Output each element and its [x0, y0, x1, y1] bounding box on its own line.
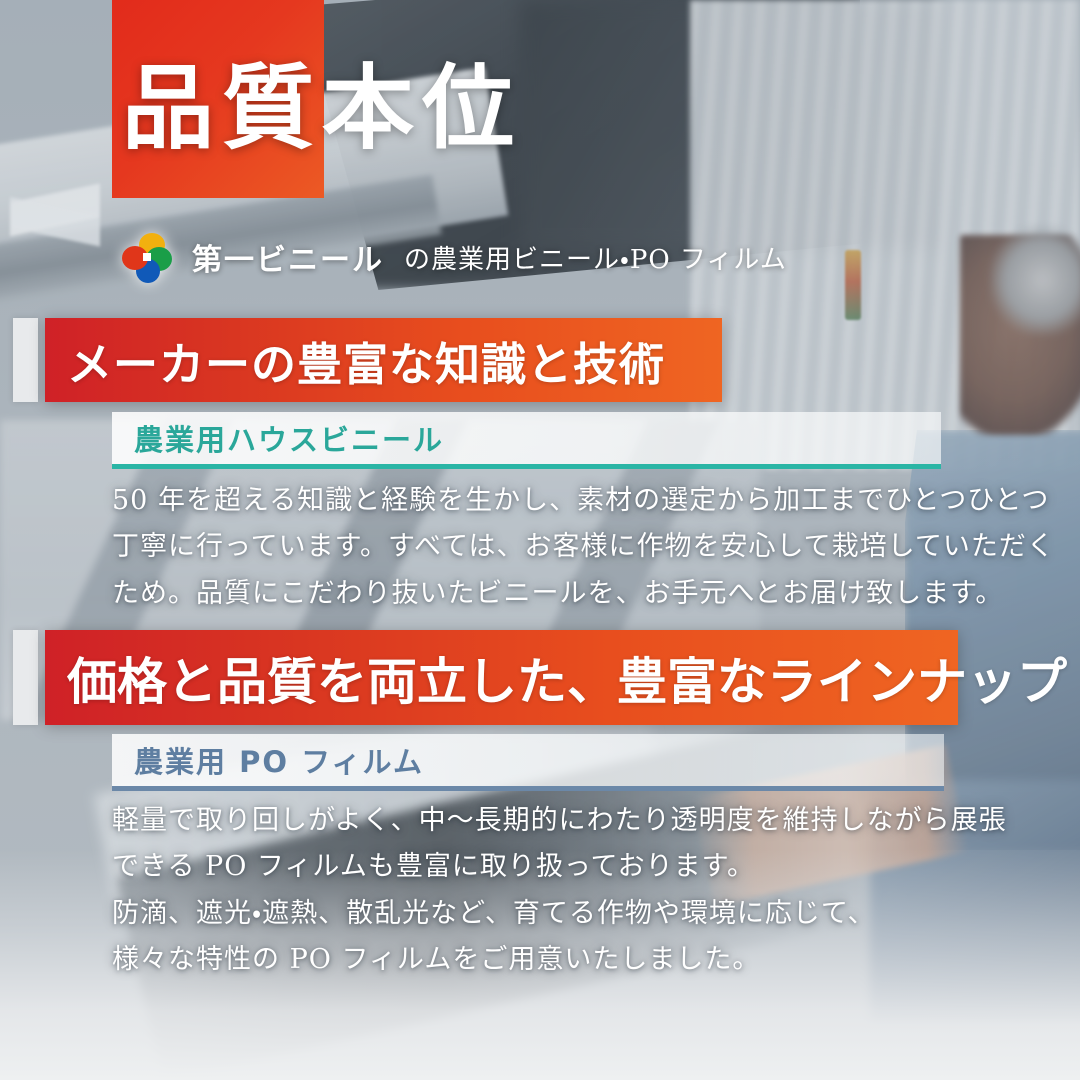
promotional-banner: 品質本位 第一ビニール の農業用ビニール・PO フィルム メーカーの豊富な知識と…: [0, 0, 1080, 1080]
section-banner-1: メーカーの豊富な知識と技術: [45, 318, 722, 402]
section-marker-1: [13, 318, 38, 402]
section-subheading-2-text: 農業用 PO フィルム: [112, 739, 424, 781]
body-line: ため。品質にこだわり抜いたビニールを、お手元へとお届け致します。: [112, 571, 992, 617]
body-line: 様々な特性の PO フィルムをご用意いたしました。: [112, 937, 992, 983]
section-body-2: 軽量で取り回しがよく、中〜長期的にわたり透明度を維持しながら展張 できる PO …: [112, 798, 992, 984]
section-body-1: 50 年を超える知識と経験を生かし、素材の選定から加工までひとつひとつ 丁寧に行…: [112, 478, 992, 617]
body-line: 50 年を超える知識と経験を生かし、素材の選定から加工までひとつひとつ: [112, 478, 992, 524]
brand-name: 第一ビニール: [192, 235, 384, 279]
section-banner-2: 価格と品質を両立した、豊富なラインナップ: [45, 630, 958, 725]
brand-row: 第一ビニール の農業用ビニール・PO フィルム: [118, 228, 787, 286]
section-banner-2-text: 価格と品質を両立した、豊富なラインナップ: [45, 642, 1067, 714]
section-subheading-1-text: 農業用ハウスビニール: [112, 417, 444, 459]
section-subheading-1: 農業用ハウスビニール: [112, 412, 941, 469]
body-line: 防滴、遮光・遮熱、散乱光など、育てる作物や環境に応じて、: [112, 891, 992, 937]
body-line: 丁寧に行っています。すべては、お客様に作物を安心して栽培していただく: [112, 524, 992, 570]
content-layer: 品質本位 第一ビニール の農業用ビニール・PO フィルム メーカーの豊富な知識と…: [0, 0, 1080, 1080]
section-marker-2: [13, 630, 38, 725]
page-title: 品質本位: [122, 62, 682, 154]
dai-ichi-vinyl-pinwheel-logo-icon: [118, 228, 176, 286]
brand-suffix: の農業用ビニール・PO フィルム: [404, 239, 787, 276]
body-line: 軽量で取り回しがよく、中〜長期的にわたり透明度を維持しながら展張: [112, 798, 992, 844]
section-banner-1-text: メーカーの豊富な知識と技術: [45, 328, 665, 393]
body-line: できる PO フィルムも豊富に取り扱っております。: [112, 844, 992, 890]
section-subheading-2: 農業用 PO フィルム: [112, 734, 944, 791]
